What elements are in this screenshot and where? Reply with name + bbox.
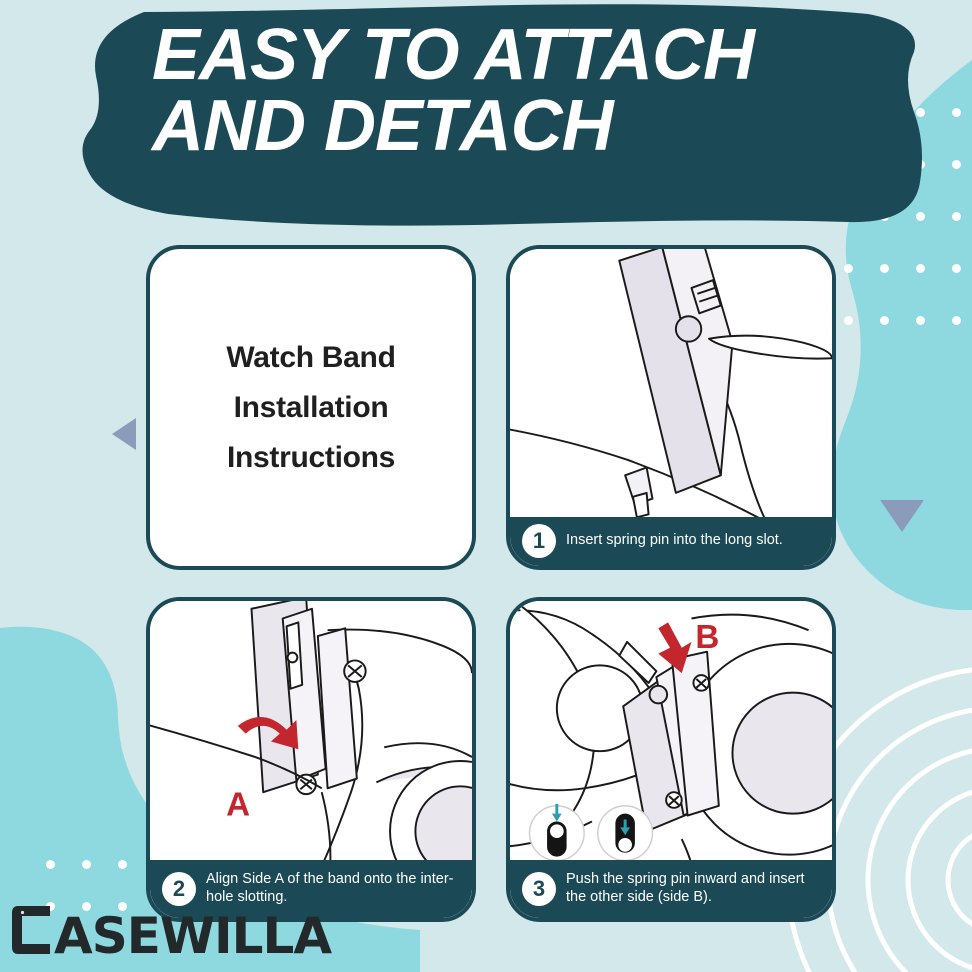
label-side-a: A: [226, 787, 250, 824]
triangle-right-icon: [880, 500, 924, 532]
panel-title-card: Watch Band Installation Instructions: [146, 245, 476, 570]
panel-step-3: B: [506, 597, 836, 922]
header-banner: EASY TO ATTACH AND DETACH: [48, 4, 928, 228]
title-card-text: Watch Band Installation Instructions: [150, 249, 472, 566]
label-side-b: B: [695, 619, 719, 656]
triangle-left-icon: [112, 418, 136, 450]
title-card-line-1: Watch Band: [226, 341, 395, 375]
caption-step-3: 3 Push the spring pin inward and insert …: [510, 860, 832, 918]
panel-step-1: 1 Insert spring pin into the long slot.: [506, 245, 836, 570]
caption-text-step-2: Align Side A of the band onto the inter-…: [206, 871, 462, 906]
phone-case-c-icon: [8, 902, 52, 958]
steps-grid: Watch Band Installation Instructions: [146, 245, 836, 922]
panel-step-2: A 2 Align Side A of the band onto the in…: [146, 597, 476, 922]
title-card-line-2: Installation: [234, 391, 389, 425]
infographic-canvas: EASY TO ATTACH AND DETACH Watch Band Ins…: [0, 0, 972, 972]
step-number-1: 1: [522, 524, 556, 558]
caption-step-1: 1 Insert spring pin into the long slot.: [510, 517, 832, 566]
brand-logo-text: ASEWILLA: [54, 915, 331, 958]
caption-text-step-3: Push the spring pin inward and insert th…: [566, 871, 822, 906]
caption-text-step-1: Insert spring pin into the long slot.: [566, 532, 783, 550]
step-number-2: 2: [162, 872, 196, 906]
brand-logo: ASEWILLA: [8, 902, 331, 958]
inset-detail-pin-in: [598, 806, 653, 861]
page-title: EASY TO ATTACH AND DETACH: [152, 20, 952, 161]
step-number-3: 3: [522, 872, 556, 906]
title-card-line-3: Instructions: [227, 441, 395, 475]
